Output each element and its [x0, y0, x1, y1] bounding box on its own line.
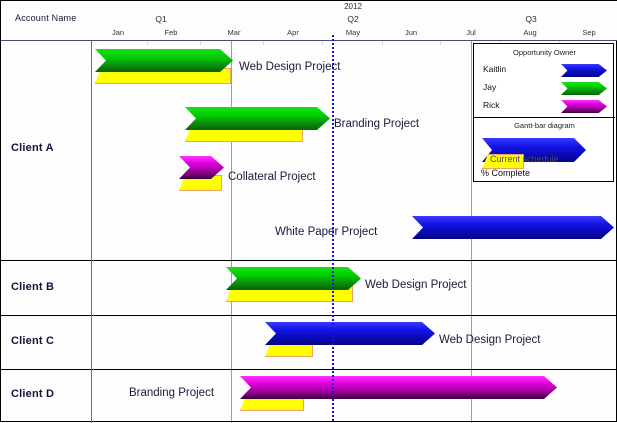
task-bar[interactable]: [226, 267, 361, 290]
task-label: Branding Project: [334, 118, 419, 130]
legend-sample-bar-label: Current schedule: [490, 154, 559, 164]
legend-owner-row[interactable]: Jay: [474, 80, 615, 98]
client-row-label: Client A: [11, 142, 54, 154]
legend-owner-row[interactable]: Kaitlin: [474, 62, 615, 80]
legend-title: Opportunity Owner: [474, 48, 615, 57]
task-label: Collateral Project: [228, 171, 316, 183]
timeline-month-label: Mar: [228, 28, 241, 37]
legend-owner-name: Rick: [483, 100, 500, 110]
task-bar[interactable]: [185, 107, 330, 130]
legend-percent-complete-label: % Complete: [481, 168, 530, 178]
gantt-chart: Account Name 2012 Q1Q2Q3 JanFebMarAprMay…: [0, 0, 617, 422]
timeline-month-label: Aug: [523, 28, 536, 37]
chart-header: Account Name 2012 Q1Q2Q3 JanFebMarAprMay…: [1, 1, 617, 41]
task-label: Web Design Project: [365, 279, 466, 291]
task-label: White Paper Project: [275, 226, 377, 238]
legend-subtitle: Gantt-bar diagram: [474, 121, 615, 130]
timeline-month-label: Jun: [405, 28, 417, 37]
task-bar[interactable]: [240, 376, 557, 399]
timeline-month-label: Apr: [287, 28, 299, 37]
timeline-month-label: Jul: [466, 28, 476, 37]
name-column-divider: [91, 41, 92, 423]
timeline-month-label: Feb: [165, 28, 178, 37]
task-bar[interactable]: [412, 216, 614, 239]
client-row-label: Client C: [11, 335, 54, 347]
legend-owner-color-swatch: [561, 82, 607, 95]
timeline-month-label: May: [346, 28, 360, 37]
legend-owner-row[interactable]: Rick: [474, 98, 615, 116]
column-header-account-name: Account Name: [15, 13, 76, 23]
timeline-quarter-label: Q1: [155, 14, 166, 24]
timeline-quarter-label: Q2: [347, 14, 358, 24]
legend-divider: [474, 117, 615, 118]
legend-owner-name: Kaitlin: [483, 64, 506, 74]
legend-owner-name: Jay: [483, 82, 496, 92]
task-bar[interactable]: [95, 49, 233, 72]
task-label: Web Design Project: [439, 334, 540, 346]
legend-owner-color-swatch: [561, 64, 607, 77]
legend-panel: Opportunity Owner KaitlinJayRick Gantt-b…: [473, 43, 614, 182]
timeline-quarter-label: Q3: [525, 14, 536, 24]
task-label: Web Design Project: [239, 61, 340, 73]
client-row-label: Client B: [11, 281, 54, 293]
timeline-month-label: Sep: [582, 28, 595, 37]
task-label: Branding Project: [129, 387, 214, 399]
timeline-month-label: Jan: [112, 28, 124, 37]
timeline-year-label: 2012: [344, 2, 362, 11]
client-row-label: Client D: [11, 388, 54, 400]
legend-owner-color-swatch: [561, 100, 607, 113]
task-bar[interactable]: [265, 322, 435, 345]
